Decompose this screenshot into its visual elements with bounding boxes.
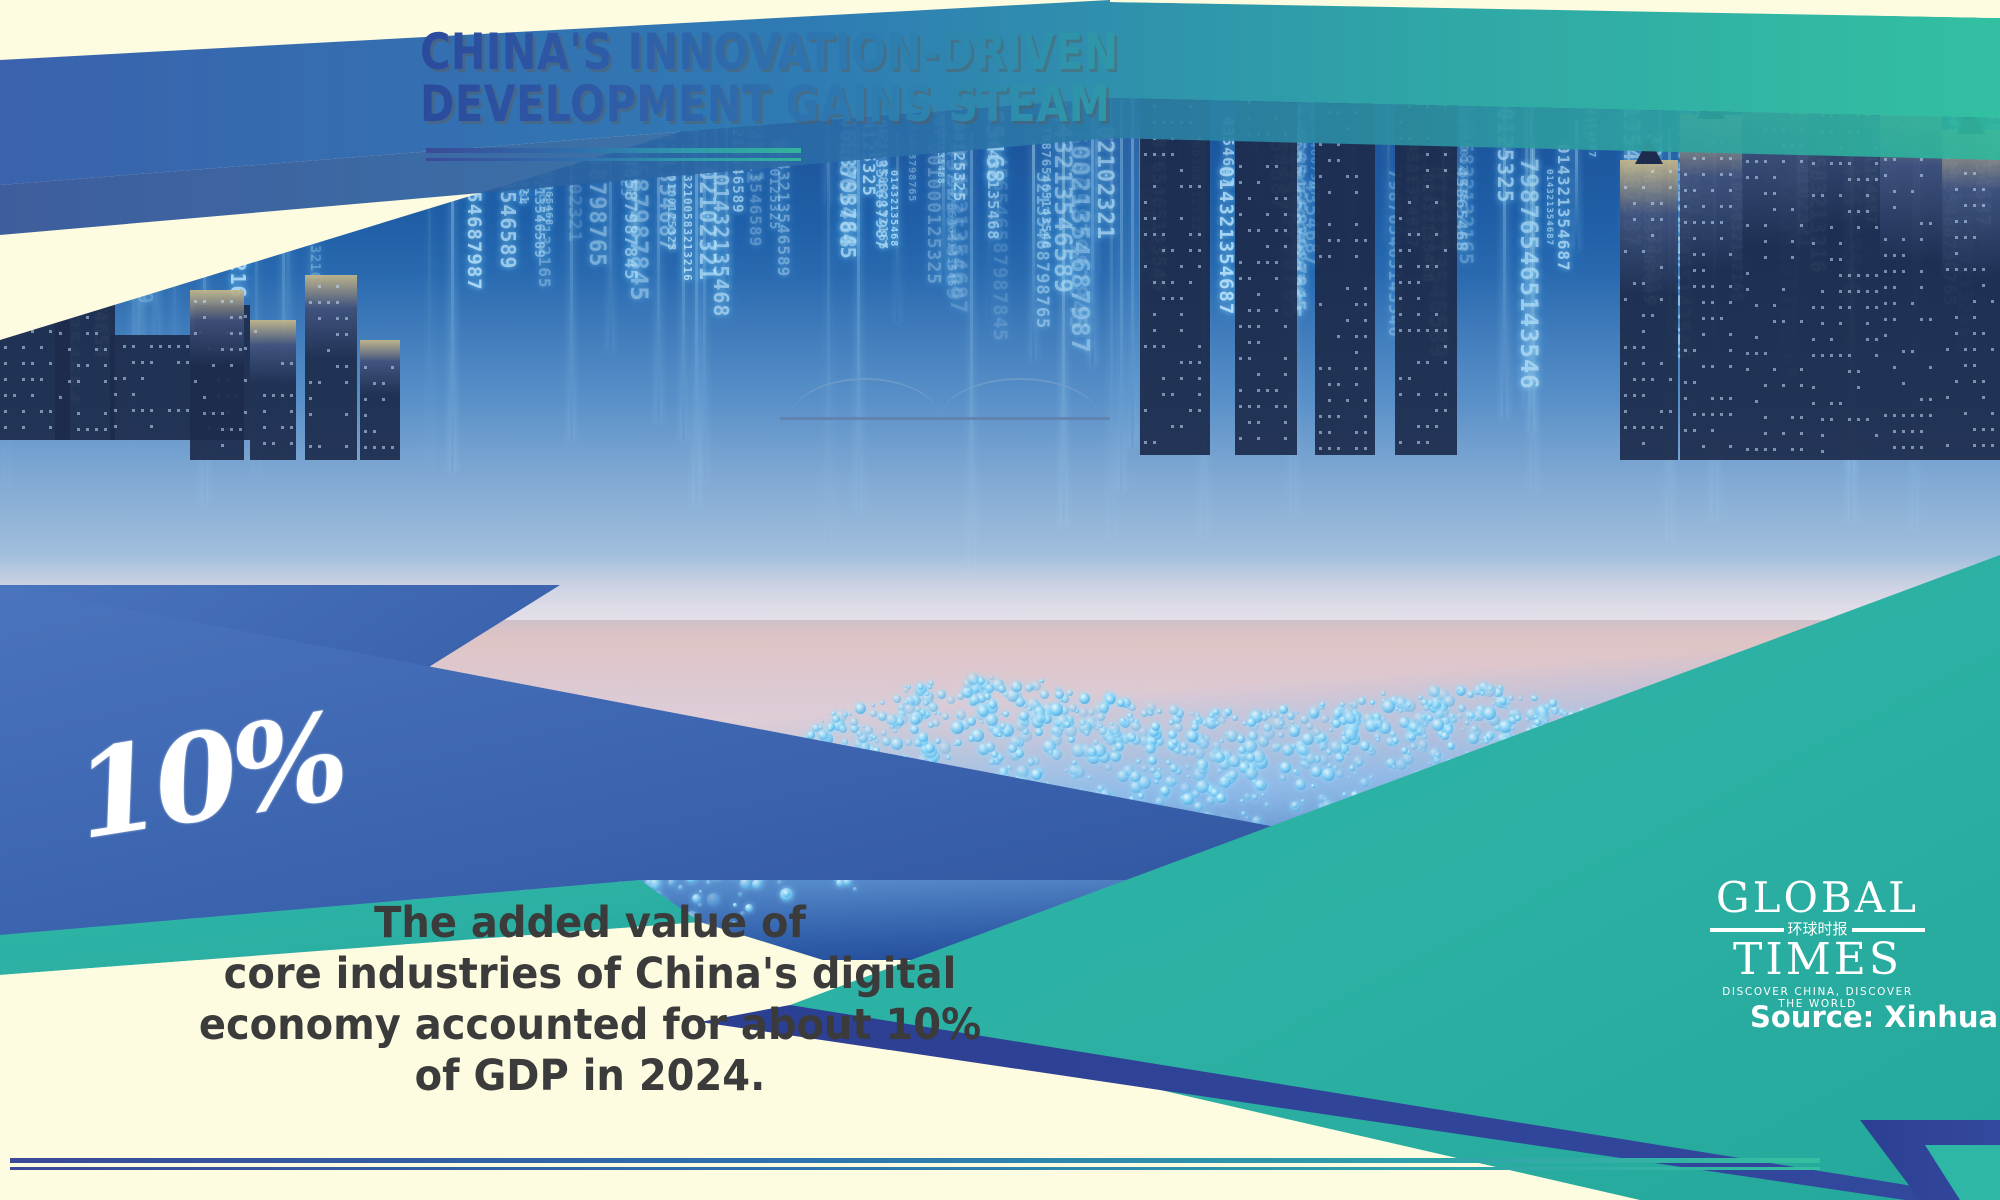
bottom-rule-thick — [10, 1158, 1820, 1163]
logo-word-times: TIMES — [1710, 939, 1925, 981]
title-line-1: CHINA'S INNOVATION-DRIVEN — [420, 26, 1340, 78]
title-line-2: DEVELOPMENT GAINS STEAM — [420, 78, 1340, 130]
body-line-1: The added value of — [181, 898, 999, 949]
global-times-logo: GLOBAL 环球时报 TIMES DISCOVER CHINA, DISCOV… — [1710, 878, 1925, 1010]
poster-title: CHINA'S INNOVATION-DRIVEN DEVELOPMENT GA… — [420, 26, 1420, 130]
title-underline-thin — [426, 158, 801, 161]
infographic-poster: 0010001253250143213546832100583213216014… — [0, 0, 2000, 1200]
body-line-4: of GDP in 2024. — [181, 1051, 999, 1102]
body-copy: The added value of core industries of Ch… — [181, 898, 999, 1102]
body-line-2: core industries of China's digital — [181, 949, 999, 1000]
body-line-3: economy accounted for about 10% — [181, 1000, 999, 1051]
bottom-rule-group — [10, 1158, 1820, 1170]
logo-rule-right — [1852, 928, 1926, 932]
bottom-rule-thin — [10, 1167, 1820, 1170]
title-underline-thick — [426, 148, 801, 153]
title-underline — [426, 148, 801, 161]
logo-word-global: GLOBAL — [1710, 878, 1925, 918]
source-credit: Source: Xinhua — [1750, 1000, 1998, 1034]
logo-rule-left — [1710, 928, 1784, 932]
